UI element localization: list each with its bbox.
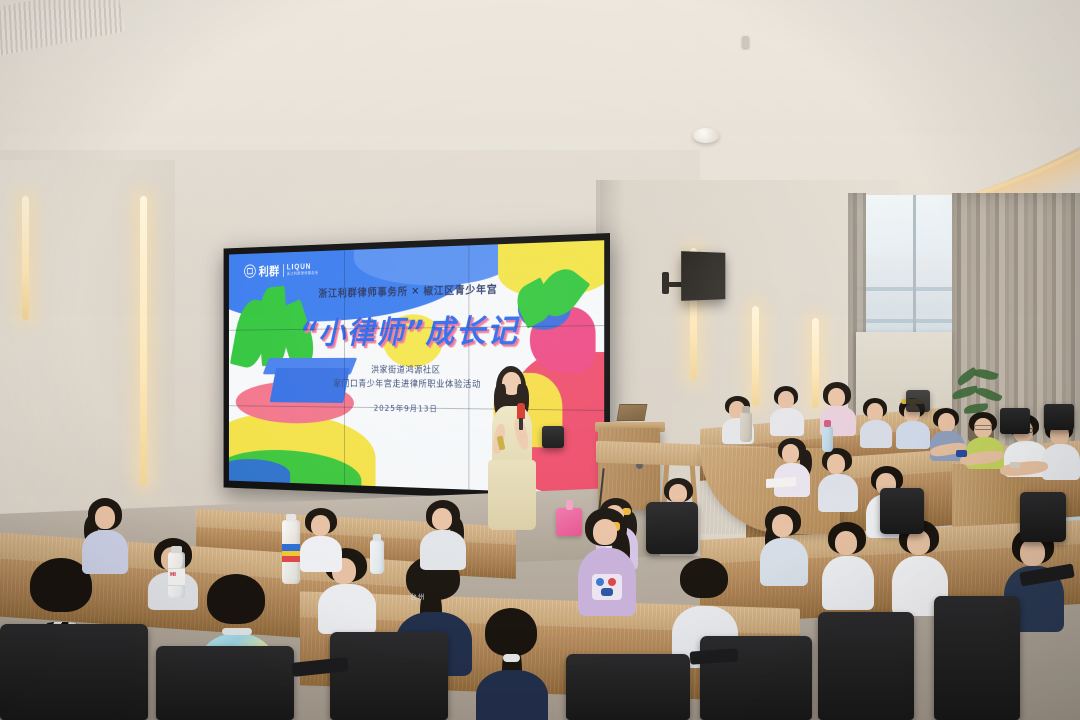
eyeglasses [974, 425, 992, 430]
microphone[interactable] [517, 403, 525, 419]
head [593, 519, 617, 545]
partner-separator-icon: ✕ [411, 285, 420, 297]
wall-led-strip [22, 196, 29, 320]
pencil-case-handle [566, 500, 573, 510]
head [95, 506, 115, 529]
torso [818, 474, 858, 512]
bottle-cap [742, 406, 749, 413]
video-wall-seam [344, 250, 345, 485]
audience-child [770, 386, 804, 434]
head [1020, 539, 1045, 566]
audience-child [578, 508, 636, 616]
wall-monitor[interactable] [681, 251, 725, 301]
chair[interactable] [0, 624, 148, 720]
audience-child [760, 506, 808, 586]
chair[interactable] [646, 502, 698, 554]
head [827, 454, 845, 474]
wristband [956, 450, 967, 457]
hair-tie [503, 654, 520, 662]
partner-left: 浙江利群律师事务所 [318, 284, 408, 301]
chair[interactable] [818, 612, 914, 720]
bottle-body [822, 426, 833, 452]
video-wall-seam [469, 245, 470, 489]
torso [420, 530, 466, 570]
exterior-building-line [855, 287, 955, 291]
chair[interactable] [880, 488, 924, 534]
chair[interactable] [700, 636, 812, 720]
torso [476, 670, 548, 720]
bottle-cap [286, 514, 297, 521]
head [782, 444, 799, 463]
torso [860, 420, 892, 448]
pink-pencil-case[interactable] [556, 508, 582, 536]
logo-divider [283, 264, 284, 277]
bottle-cap [171, 546, 181, 553]
audience-child [420, 500, 466, 570]
head [432, 508, 452, 530]
laptop[interactable] [616, 404, 650, 424]
chair[interactable] [542, 426, 564, 448]
torso [300, 536, 342, 572]
presenter [484, 366, 540, 542]
partner-right: 椒江区青少年宫 [424, 281, 498, 298]
laptop-screen [617, 404, 648, 421]
bottle-cap [373, 534, 381, 541]
water-bottle[interactable] [822, 426, 833, 452]
chair[interactable] [330, 632, 448, 720]
audience-child [82, 498, 128, 574]
slide-subtitle: 洪家街道鸿源社区 家门口青少年宫走进律所职业体验活动 [229, 364, 604, 393]
lecture-hall-photo: 利群 LIQUN 浙江利群律师事务所 浙江利群律师事务所 ✕ 椒江区青少年宫 “… [0, 0, 1080, 720]
shirt-graphic-detail [608, 578, 616, 586]
liqun-circle-mark [244, 264, 256, 278]
head [938, 413, 955, 432]
hair [680, 558, 728, 598]
audience-child [774, 438, 810, 496]
water-bottle[interactable]: HI [168, 552, 185, 598]
necklace [222, 628, 252, 635]
head [669, 484, 687, 503]
smoke-detector [693, 128, 719, 143]
water-bottle[interactable] [282, 520, 300, 584]
torso [318, 584, 376, 634]
head [311, 515, 330, 536]
bottle-label [282, 544, 300, 562]
wristwatch [1010, 462, 1020, 468]
chair[interactable] [934, 596, 1020, 720]
bottle-body [740, 412, 752, 442]
head [772, 514, 793, 537]
wall-led-strip [752, 306, 759, 406]
chair[interactable] [1000, 408, 1030, 434]
logo-english-block: LIQUN 浙江利群律师事务所 [287, 263, 319, 276]
head [835, 531, 857, 555]
logo-english-sub: 浙江利群律师事务所 [287, 271, 319, 276]
water-bottle[interactable] [370, 540, 384, 574]
bottle-cap [824, 420, 831, 427]
chair[interactable] [1020, 492, 1066, 542]
sprinkler-head [742, 36, 749, 48]
torso [822, 556, 874, 610]
audience-child [822, 522, 874, 610]
head [867, 403, 883, 421]
torso [760, 538, 808, 586]
video-wall-display[interactable]: 利群 LIQUN 浙江利群律师事务所 浙江利群律师事务所 ✕ 椒江区青少年宫 “… [224, 233, 610, 503]
shirt-graphic-detail [596, 578, 604, 586]
audience-child [860, 398, 892, 446]
chair[interactable] [566, 654, 690, 720]
hair [207, 574, 265, 624]
audience-child [476, 608, 548, 720]
water-bottle[interactable] [740, 412, 752, 442]
liqun-logo: 利群 LIQUN 浙江利群律师事务所 [244, 260, 318, 280]
chair[interactable] [156, 646, 294, 720]
chair[interactable] [1044, 404, 1074, 430]
slide-text-block: 浙江利群律师事务所 ✕ 椒江区青少年宫 “小律师”成长记 洪家街道鸿源社区 家门… [229, 278, 604, 416]
wall-led-strip [140, 196, 147, 486]
shirt-graphic-detail [601, 588, 613, 596]
logo-chinese-name: 利群 [259, 262, 280, 280]
microphone-handle [519, 418, 523, 430]
presenter-skirt [488, 460, 536, 530]
uniform-text: 台州 [410, 592, 425, 602]
wall-led-strip [812, 318, 819, 408]
video-wall-screen: 利群 LIQUN 浙江利群律师事务所 浙江利群律师事务所 ✕ 椒江区青少年宫 “… [229, 240, 604, 495]
exterior-building-line [855, 319, 955, 323]
head [828, 388, 845, 407]
head [778, 391, 794, 409]
bottle-body [370, 540, 384, 574]
torso [1042, 444, 1080, 480]
audience-child [818, 448, 858, 512]
bottle-brand-text: HI [170, 572, 176, 578]
slide-subtitle-line1: 洪家街道鸿源社区 [229, 364, 604, 379]
torso [770, 408, 804, 436]
plant-leaf [975, 385, 1002, 404]
torso [896, 421, 930, 449]
slide-subtitle-line2: 家门口青少年宫走进律所职业体验活动 [229, 378, 604, 394]
chair[interactable] [906, 390, 930, 412]
torso [82, 530, 128, 574]
audience-child [300, 508, 342, 572]
